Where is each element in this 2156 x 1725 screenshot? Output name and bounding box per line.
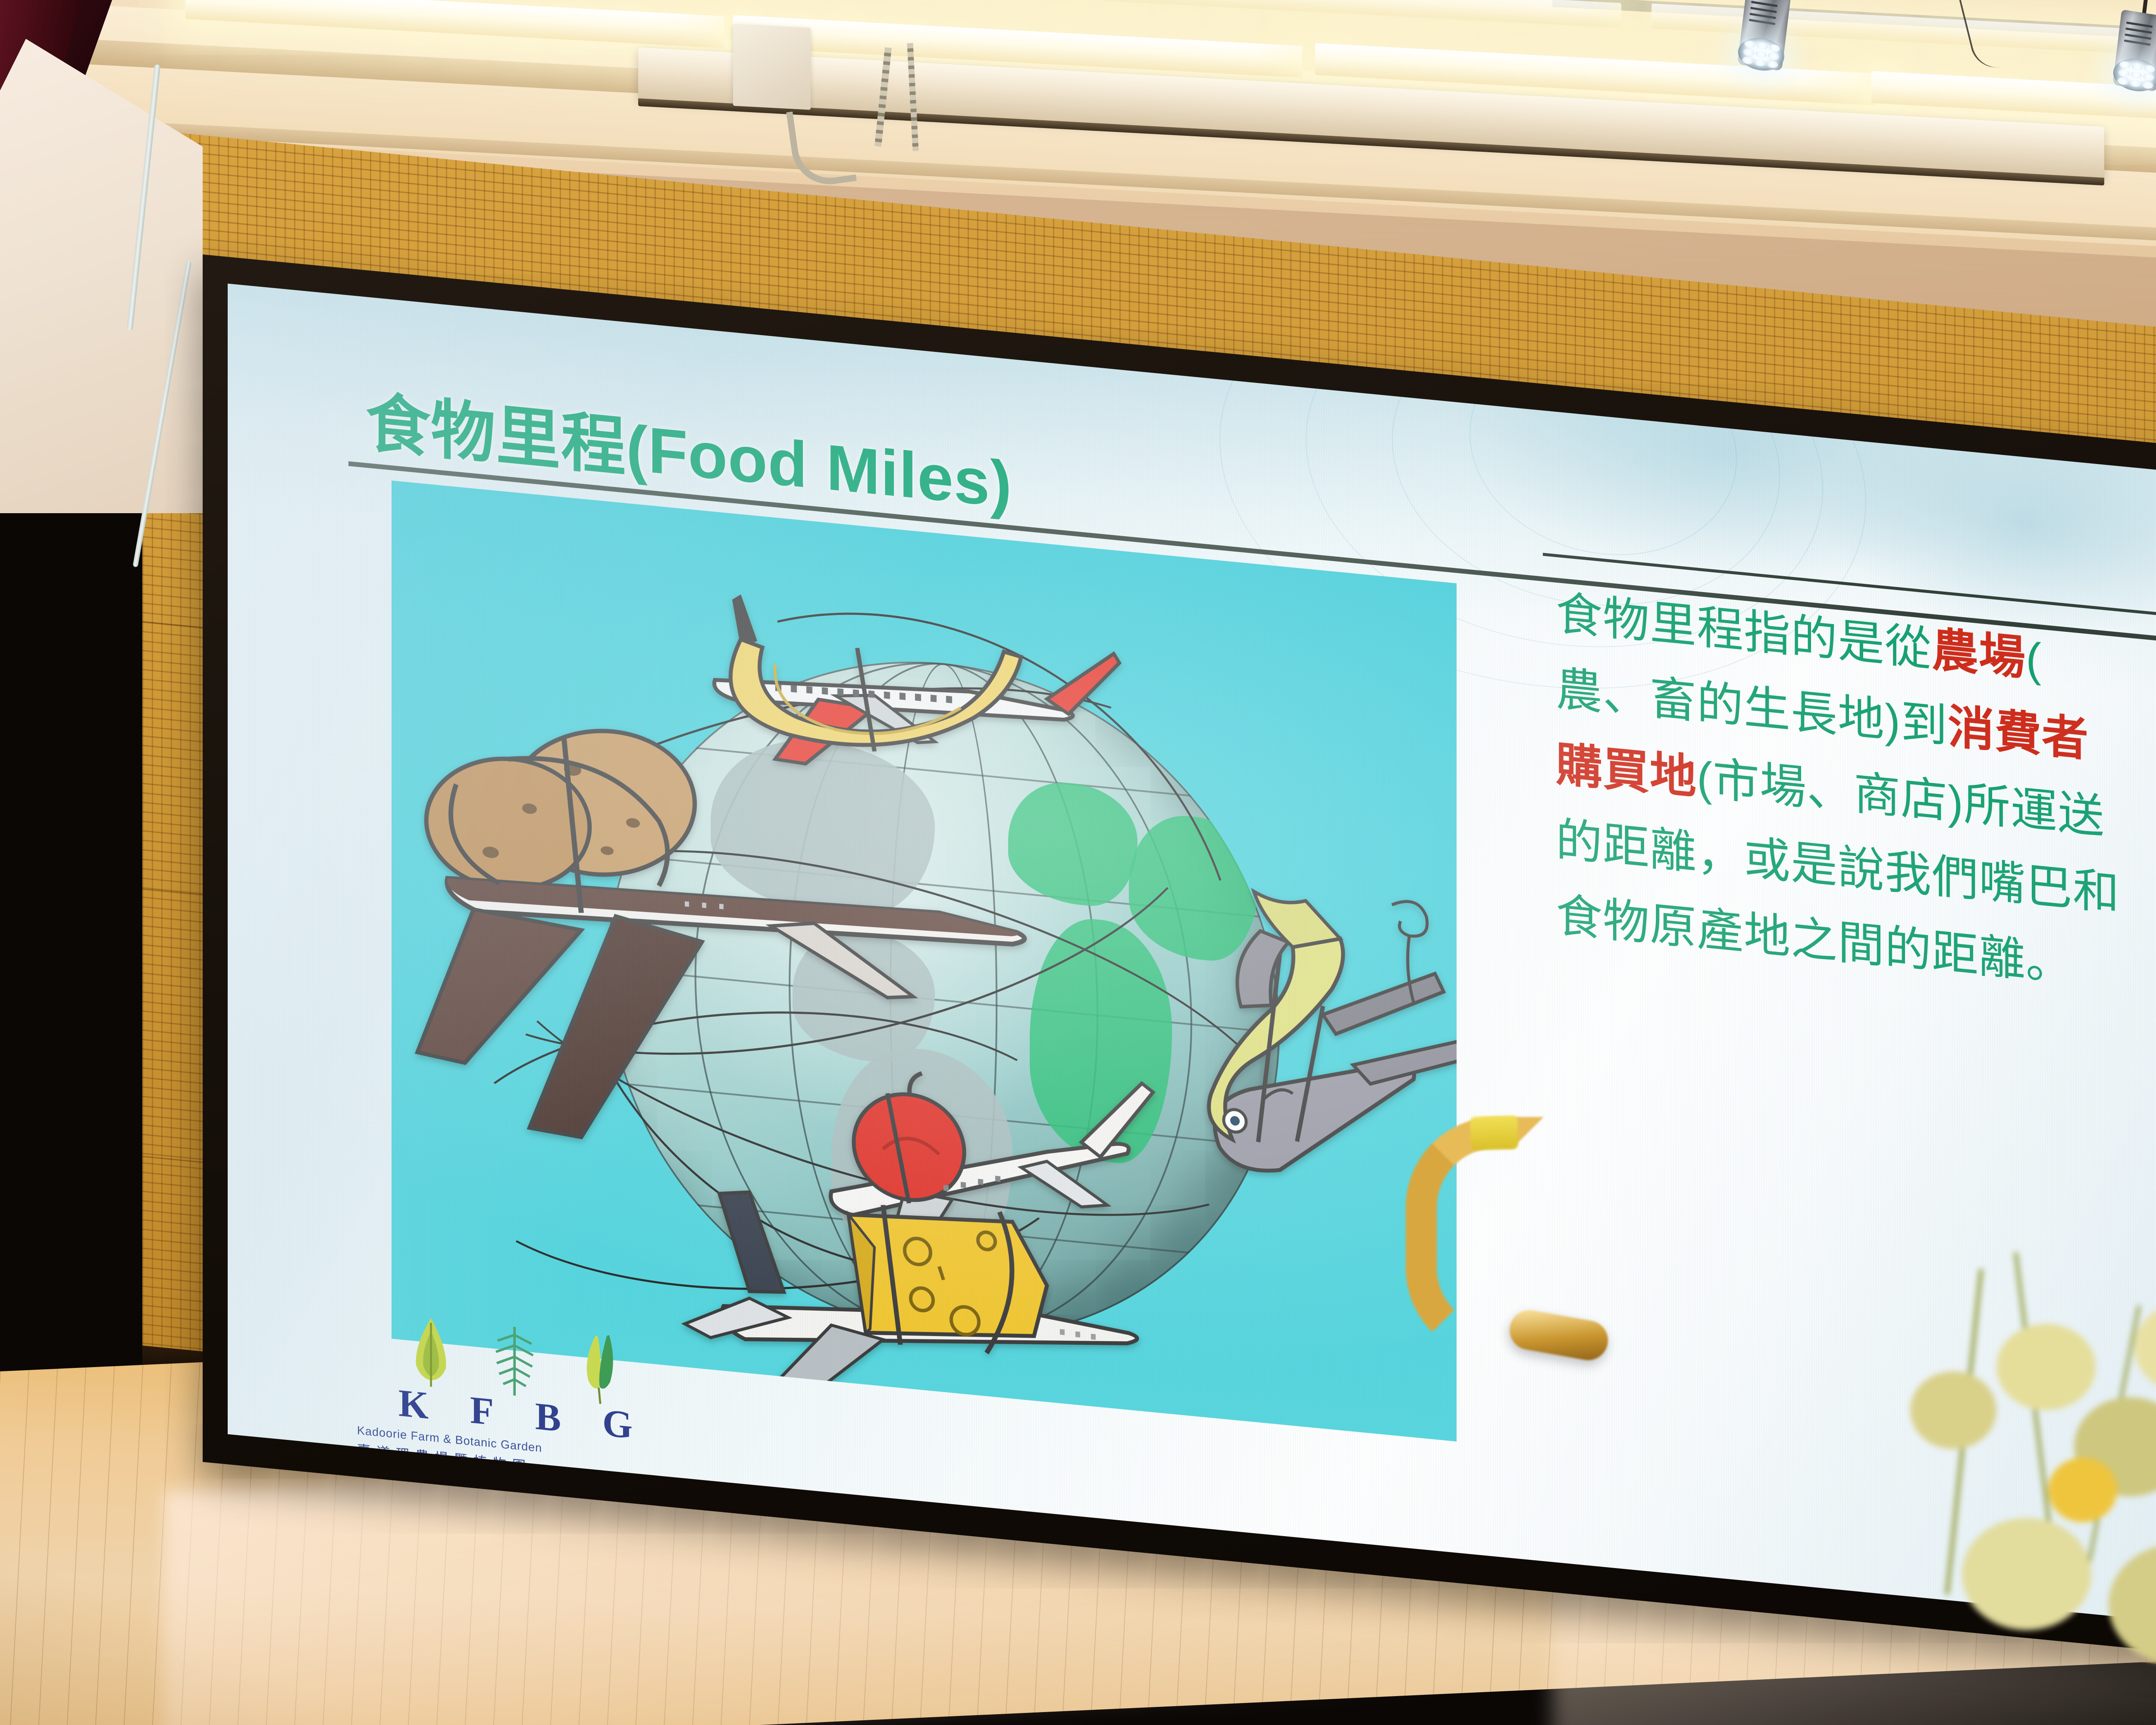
slide-body-text: 食物里程指的是從農場(農、畜的生長地)到消費者購買地(市場、商店)所運送的距離，… — [1556, 576, 2156, 1023]
body-text-highlight: 農場 — [1932, 623, 2026, 684]
handrail-top-rail — [1379, 1063, 1915, 1108]
body-text-highlight: 消費者 — [1948, 700, 2089, 766]
food-miles-illustration — [392, 480, 1457, 1441]
led-par-stage-light — [1737, 0, 1791, 71]
logo-letter-b: B — [535, 1394, 561, 1441]
kfbg-logo: K F B G Kadoorie Farm & Botanic Garden 嘉… — [357, 1301, 624, 1484]
logo-letter-f: F — [470, 1388, 494, 1434]
logo-letter-g: G — [602, 1400, 633, 1448]
screen-mount-plate — [733, 24, 811, 110]
leaf-cone-icon — [409, 1310, 453, 1392]
body-text-highlight: 購買地 — [1556, 738, 1697, 804]
body-text-run: ( — [2026, 632, 2042, 686]
handrail-yellow-tape — [1470, 1116, 1518, 1151]
foreground-flowers — [1833, 1242, 2156, 1725]
two-leaves-icon — [576, 1327, 624, 1409]
airplane-carrying-cheese — [659, 1119, 1168, 1435]
logo-letter-k: K — [398, 1381, 429, 1428]
auditorium-scene: 食物里程(Food Miles) — [0, 0, 2156, 1725]
fern-frond-icon — [490, 1318, 539, 1400]
